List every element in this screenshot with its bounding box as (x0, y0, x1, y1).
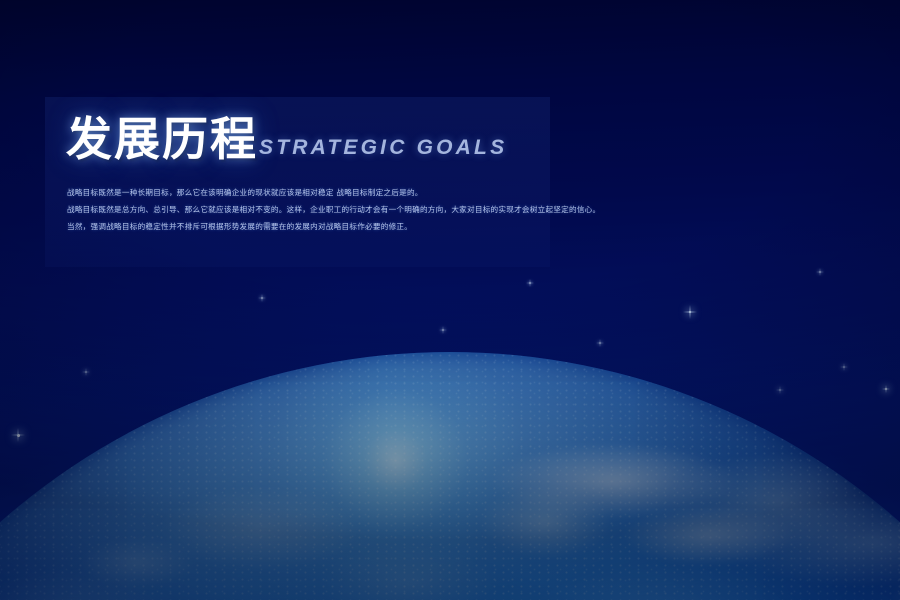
banner-stage: 发展历程 STRATEGIC GOALS 战略目标既然是一种长期目标，那么它在该… (0, 0, 900, 600)
body-copy: 战略目标既然是一种长期目标，那么它在该明确企业的现状就应该是相对稳定 战略目标制… (67, 186, 537, 237)
body-paragraph-3: 当然，强调战略目标的稳定性并不排斥可根据形势发展的需要在的发展内对战略目标作必要… (67, 220, 537, 234)
body-paragraph-2: 战略目标既然是总方向、总引导、那么它就应该是相对不变的。这样，企业职工的行动才会… (67, 203, 537, 217)
space-background (0, 0, 900, 600)
page-subtitle: STRATEGIC GOALS (259, 136, 507, 162)
body-paragraph-1: 战略目标既然是一种长期目标，那么它在该明确企业的现状就应该是相对稳定 战略目标制… (67, 186, 537, 200)
page-title: 发展历程 (66, 116, 258, 162)
headline-block: 发展历程 STRATEGIC GOALS (66, 116, 507, 162)
